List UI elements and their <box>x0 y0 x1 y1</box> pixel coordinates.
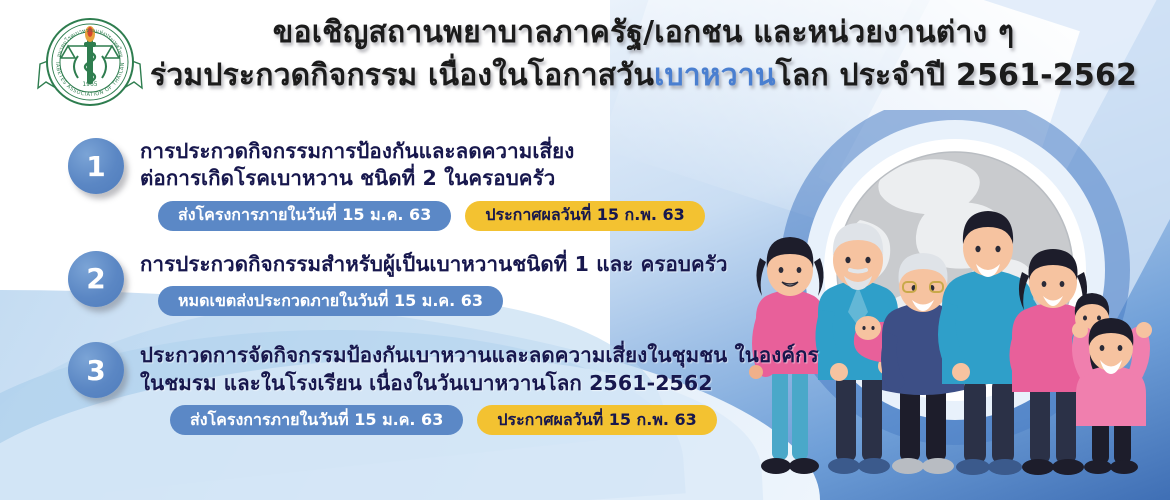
item-1-result-badge: ประกาศผลวันที่ 15 ก.พ. 63 <box>465 201 704 231</box>
contest-item-3: 3 ประกวดการจัดกิจกรรมป้องกันเบาหวานและลด… <box>0 340 760 435</box>
item-1-text-line-2: ต่อการเกิดโรคเบาหวาน ชนิดที่ 2 ในครอบครั… <box>140 165 760 192</box>
item-3-submit-badge: ส่งโครงการภายในวันที่ 15 ม.ค. 63 <box>170 405 463 435</box>
item-1-badges: ส่งโครงการภายในวันที่ 15 ม.ค. 63 ประกาศผ… <box>158 201 760 231</box>
contest-item-1: 1 การประกวดกิจกรรมการป้องกันและลดความเสี… <box>0 136 760 231</box>
item-3-result-badge: ประกาศผลวันที่ 15 ก.พ. 63 <box>477 405 716 435</box>
family-globe-illustration <box>740 110 1170 500</box>
item-1-submit-badge: ส่งโครงการภายในวันที่ 15 ม.ค. 63 <box>158 201 451 231</box>
title-line-2-highlight: เบาหวาน <box>654 58 776 93</box>
item-2-text-line-1: การประกวดกิจกรรมสำหรับผู้เป็นเบาหวานชนิด… <box>140 251 760 278</box>
item-number-badge-3: 3 <box>68 342 124 398</box>
item-1-text-line-1: การประกวดกิจกรรมการป้องกันและลดความเสี่ย… <box>140 138 760 165</box>
item-body-3: ประกวดการจัดกิจกรรมป้องกันเบาหวานและลดคว… <box>140 340 819 435</box>
title-line-1: ขอเชิญสถานพยาบาลภาครัฐ/เอกชน และหน่วยงาน… <box>150 12 1137 55</box>
item-body-2: การประกวดกิจกรรมสำหรับผู้เป็นเบาหวานชนิด… <box>140 249 760 316</box>
banner-title: ขอเชิญสถานพยาบาลภาครัฐ/เอกชน และหน่วยงาน… <box>150 12 1170 97</box>
banner-header: 1965 สมาคมโรคเบาหวานแห่งประเทศไทย DIABET… <box>0 12 1170 122</box>
contest-item-2: 2 การประกวดกิจกรรมสำหรับผู้เป็นเบาหวานชน… <box>0 249 760 316</box>
figure-boy-pink <box>1072 318 1152 474</box>
item-3-text-line-2: ในชมรม และในโรงเรียน เนื่องในวันเบาหวานโ… <box>140 370 819 397</box>
item-number-badge-1: 1 <box>68 138 124 194</box>
contest-items-list: 1 การประกวดกิจกรรมการป้องกันและลดความเสี… <box>0 128 760 445</box>
item-body-1: การประกวดกิจกรรมการป้องกันและลดความเสี่ย… <box>140 136 760 231</box>
item-3-badges: ส่งโครงการภายในวันที่ 15 ม.ค. 63 ประกาศผ… <box>170 405 819 435</box>
title-line-2-before: ร่วมประกวดกิจกรรม เนื่องในโอกาสวัน <box>150 58 654 93</box>
title-line-2: ร่วมประกวดกิจกรรม เนื่องในโอกาสวันเบาหวา… <box>150 55 1137 98</box>
organization-logo: 1965 สมาคมโรคเบาหวานแห่งประเทศไทย DIABET… <box>30 12 150 122</box>
title-line-2-after: โลก ประจำปี 2561-2562 <box>776 58 1138 93</box>
item-number-badge-2: 2 <box>68 251 124 307</box>
item-3-text-line-1: ประกวดการจัดกิจกรรมป้องกันเบาหวานและลดคว… <box>140 342 819 369</box>
event-banner: 1965 สมาคมโรคเบาหวานแห่งประเทศไทย DIABET… <box>0 0 1170 500</box>
item-2-badges: หมดเขตส่งประกวดภายในวันที่ 15 ม.ค. 63 <box>158 286 760 316</box>
svg-text:1965: 1965 <box>82 81 97 88</box>
item-2-submit-badge: หมดเขตส่งประกวดภายในวันที่ 15 ม.ค. 63 <box>158 286 503 316</box>
